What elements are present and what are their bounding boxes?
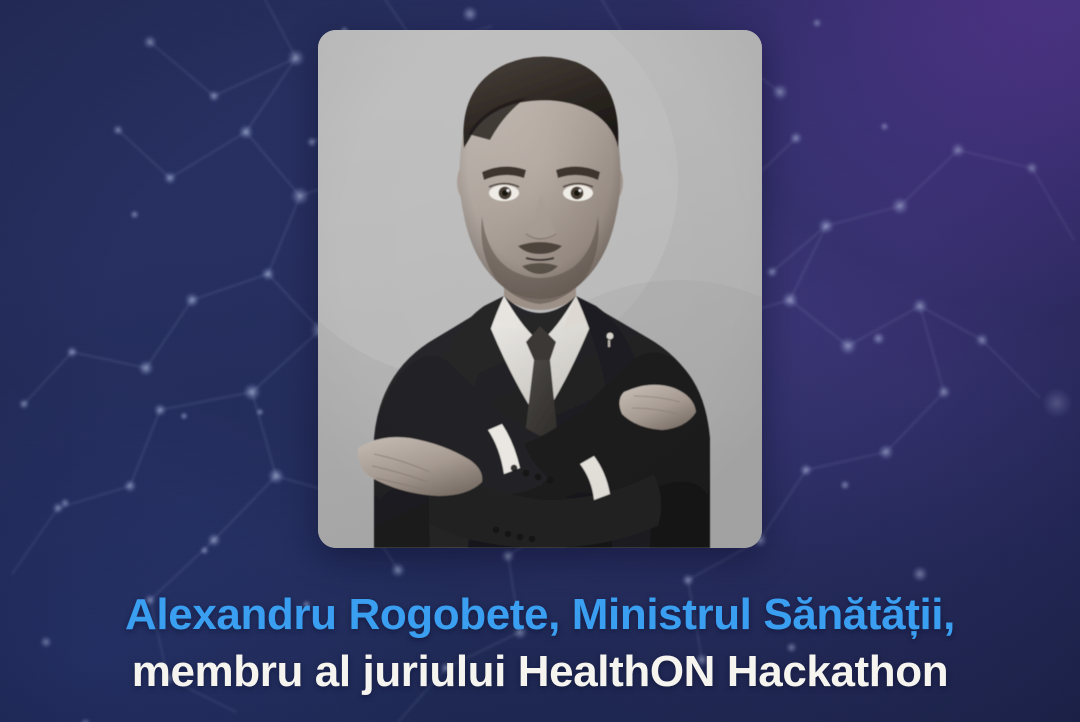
caption-line-2: membru al juriului HealthON Hackathon: [0, 649, 1080, 696]
caption-block: Alexandru Rogobete, Ministrul Sănătății,…: [0, 592, 1080, 695]
caption-line-1: Alexandru Rogobete, Ministrul Sănătății,: [0, 592, 1080, 639]
promo-poster: Alexandru Rogobete, Ministrul Sănătății,…: [0, 0, 1080, 722]
portrait-photo: [318, 30, 762, 548]
